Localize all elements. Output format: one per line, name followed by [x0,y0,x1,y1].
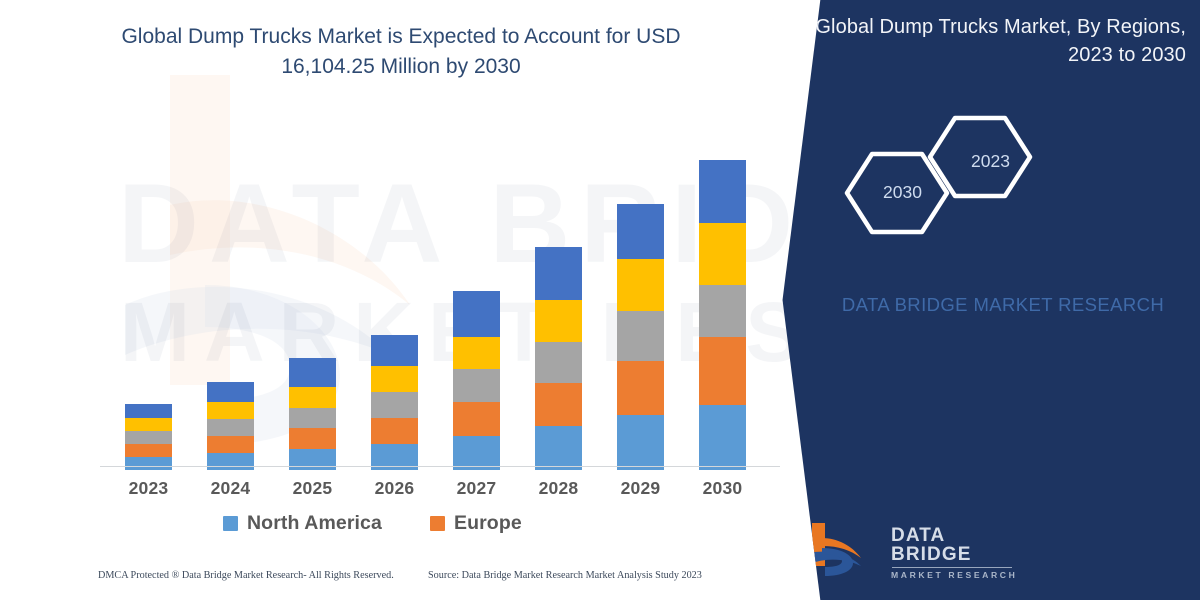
bar-segment-2029-series-4 [617,259,664,311]
hexagon-outline-icon [830,110,1070,240]
infographic-canvas: DATA BRIDGE MARKET RESEARCH Global Dump … [0,0,1200,600]
hex-label-2023: 2023 [971,151,1010,172]
x-label-2026: 2026 [371,478,418,499]
chart-title: Global Dump Trucks Market is Expected to… [92,22,710,82]
bar-2024 [207,382,254,470]
legend-swatch-icon [223,516,238,531]
logo-line-2: MARKET RESEARCH [891,571,1028,580]
x-axis-line [100,466,780,467]
footer-copyright: DMCA Protected ® Data Bridge Market Rese… [98,570,394,581]
bar-segment-2026-series-3 [371,392,418,418]
bar-segment-2028-series-3 [535,342,582,383]
bar-segment-2028-series-4 [535,300,582,342]
bar-segment-2025-series-5 [289,358,336,387]
bar-segment-2024-series-3 [207,419,254,436]
bar-segment-2028-series-5 [535,247,582,300]
bar-segment-2023-series-3 [125,431,172,444]
bar-segment-2026-series-5 [371,335,418,366]
x-label-2025: 2025 [289,478,336,499]
legend-swatch-icon [430,516,445,531]
footer-source: Source: Data Bridge Market Research Mark… [428,570,702,581]
bar-segment-2027-north-america [453,436,500,470]
bar-segment-2027-series-4 [453,337,500,369]
x-label-2027: 2027 [453,478,500,499]
footer: DMCA Protected ® Data Bridge Market Rese… [0,566,800,590]
bar-segment-2025-series-4 [289,387,336,408]
bar-segment-2027-europe [453,402,500,436]
right-panel: Global Dump Trucks Market, By Regions, 2… [780,0,1200,600]
bar-segment-2028-europe [535,383,582,426]
x-label-2028: 2028 [535,478,582,499]
bar-2027 [453,291,500,470]
bar-segment-2026-series-4 [371,366,418,392]
logo-divider [892,567,1012,568]
bar-segment-2029-series-5 [617,204,664,259]
panel-title: Global Dump Trucks Market, By Regions, 2… [781,14,1186,69]
legend-item-europe[interactable]: Europe [430,512,522,535]
bar-segment-2024-north-america [207,453,254,470]
bar-segment-2030-europe [699,337,746,405]
bar-segment-2026-europe [371,418,418,444]
bar-segment-2024-series-4 [207,402,254,419]
bar-2025 [289,358,336,470]
bar-segment-2030-series-5 [699,160,746,223]
stacked-bar-plot [100,140,780,470]
hex-label-2030: 2030 [883,182,922,203]
legend-label: Europe [454,512,522,535]
x-label-2023: 2023 [125,478,172,499]
bar-2030 [699,160,746,470]
dbmr-logo: DATA BRIDGE MARKET RESEARCH [798,518,1028,580]
bar-segment-2023-series-4 [125,418,172,431]
chart-legend: North AmericaEurope [100,512,780,542]
bar-segment-2024-series-5 [207,382,254,402]
bar-2029 [617,204,664,470]
x-label-2030: 2030 [699,478,746,499]
legend-label: North America [247,512,382,535]
hexagon-badges: 2023 2030 [830,110,1070,240]
dbmr-logo-text: DATA BRIDGE MARKET RESEARCH [891,526,1028,580]
bar-segment-2030-series-4 [699,223,746,285]
legend-item-north-america[interactable]: North America [223,512,382,535]
bar-segment-2029-series-3 [617,311,664,361]
bar-segment-2030-north-america [699,405,746,470]
bar-2026 [371,335,418,470]
x-label-2024: 2024 [207,478,254,499]
x-label-2029: 2029 [617,478,664,499]
bar-segment-2027-series-3 [453,369,500,402]
x-axis-tick-labels: 20232024202520262027202820292030 [100,478,780,504]
bar-segment-2029-europe [617,361,664,415]
bar-segment-2023-north-america [125,457,172,470]
bar-2028 [535,247,582,470]
bar-segment-2030-series-3 [699,285,746,337]
bar-segment-2025-europe [289,428,336,449]
panel-brand-text: DATA BRIDGE MARKET RESEARCH [820,292,1186,319]
bar-segment-2023-series-5 [125,404,172,418]
dbmr-logo-mark-icon [798,518,884,578]
bar-segment-2027-series-5 [453,291,500,337]
bar-segment-2025-series-3 [289,408,336,428]
bar-segment-2028-north-america [535,426,582,470]
bar-segment-2023-europe [125,444,172,457]
bar-segment-2024-europe [207,436,254,453]
bar-2023 [125,404,172,470]
logo-line-1: DATA BRIDGE [891,526,1028,564]
bar-segment-2029-north-america [617,415,664,470]
